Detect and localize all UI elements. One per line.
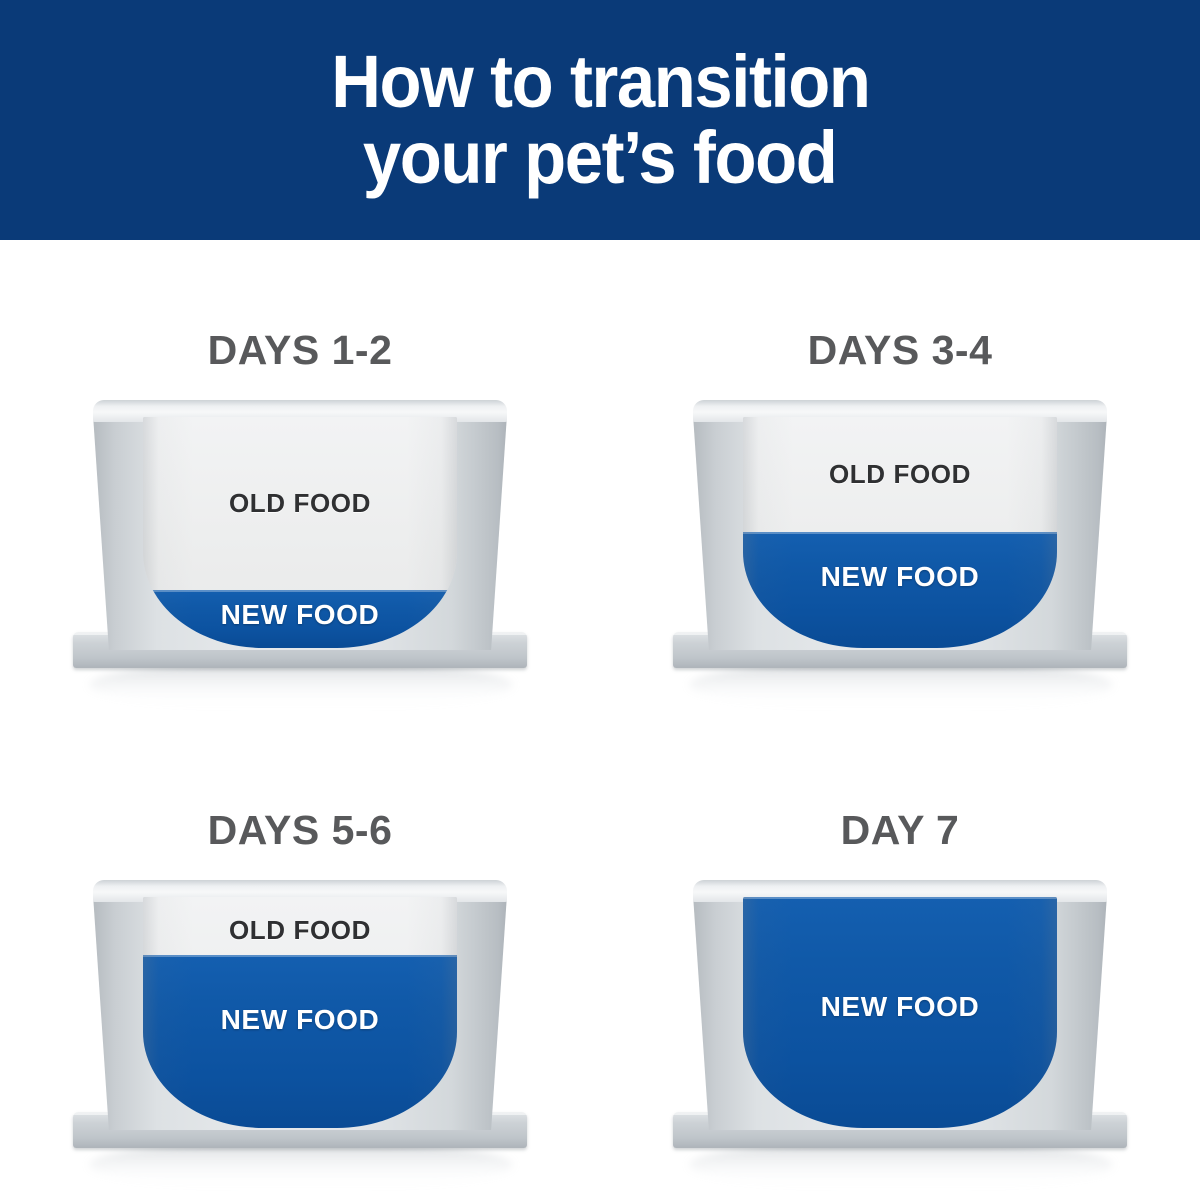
steps-grid: DAYS 1-2 OLD FOOD NEW FOOD DAYS xyxy=(0,240,1200,1200)
bowl-shadow-1 xyxy=(89,662,513,708)
old-food-label-3: OLD FOOD xyxy=(143,915,457,946)
bowl-shadow-2 xyxy=(689,662,1113,708)
header-banner: How to transition your pet’s food xyxy=(0,0,1200,240)
old-food-label-2: OLD FOOD xyxy=(743,459,1057,490)
new-food-label-1: NEW FOOD xyxy=(143,599,457,631)
new-food-label-4: NEW FOOD xyxy=(743,991,1057,1023)
bowl-cavity-4: NEW FOOD xyxy=(743,897,1057,1128)
header-title-line-1: How to transition xyxy=(331,44,869,120)
day-label-1: DAYS 1-2 xyxy=(208,328,393,372)
new-food-label-2: NEW FOOD xyxy=(743,561,1057,593)
day-label-4: DAY 7 xyxy=(841,808,960,852)
bowl-1: OLD FOOD NEW FOOD xyxy=(65,400,535,700)
bowl-cavity-2: OLD FOOD NEW FOOD xyxy=(743,417,1057,648)
new-food-portion-4: NEW FOOD xyxy=(743,897,1057,1128)
header-title-line-2: your pet’s food xyxy=(363,120,837,196)
bowl-3: OLD FOOD NEW FOOD xyxy=(65,880,535,1180)
new-food-label-3: NEW FOOD xyxy=(143,1004,457,1036)
old-food-label-1: OLD FOOD xyxy=(143,488,457,519)
bowl-2: OLD FOOD NEW FOOD xyxy=(665,400,1135,700)
step-card-3: DAYS 5-6 OLD FOOD NEW FOOD xyxy=(0,720,600,1200)
infographic-page: How to transition your pet’s food DAYS 1… xyxy=(0,0,1200,1200)
bowl-shadow-3 xyxy=(89,1142,513,1188)
bowl-cavity-3: OLD FOOD NEW FOOD xyxy=(143,897,457,1128)
bowl-4: NEW FOOD xyxy=(665,880,1135,1180)
day-label-2: DAYS 3-4 xyxy=(808,328,993,372)
step-card-2: DAYS 3-4 OLD FOOD NEW FOOD xyxy=(600,240,1200,720)
new-food-portion-1: NEW FOOD xyxy=(143,590,457,648)
new-food-portion-2: NEW FOOD xyxy=(743,532,1057,648)
day-label-3: DAYS 5-6 xyxy=(208,808,393,852)
new-food-portion-3: NEW FOOD xyxy=(143,955,457,1128)
step-card-1: DAYS 1-2 OLD FOOD NEW FOOD xyxy=(0,240,600,720)
bowl-cavity-1: OLD FOOD NEW FOOD xyxy=(143,417,457,648)
bowl-shadow-4 xyxy=(689,1142,1113,1188)
step-card-4: DAY 7 NEW FOOD xyxy=(600,720,1200,1200)
